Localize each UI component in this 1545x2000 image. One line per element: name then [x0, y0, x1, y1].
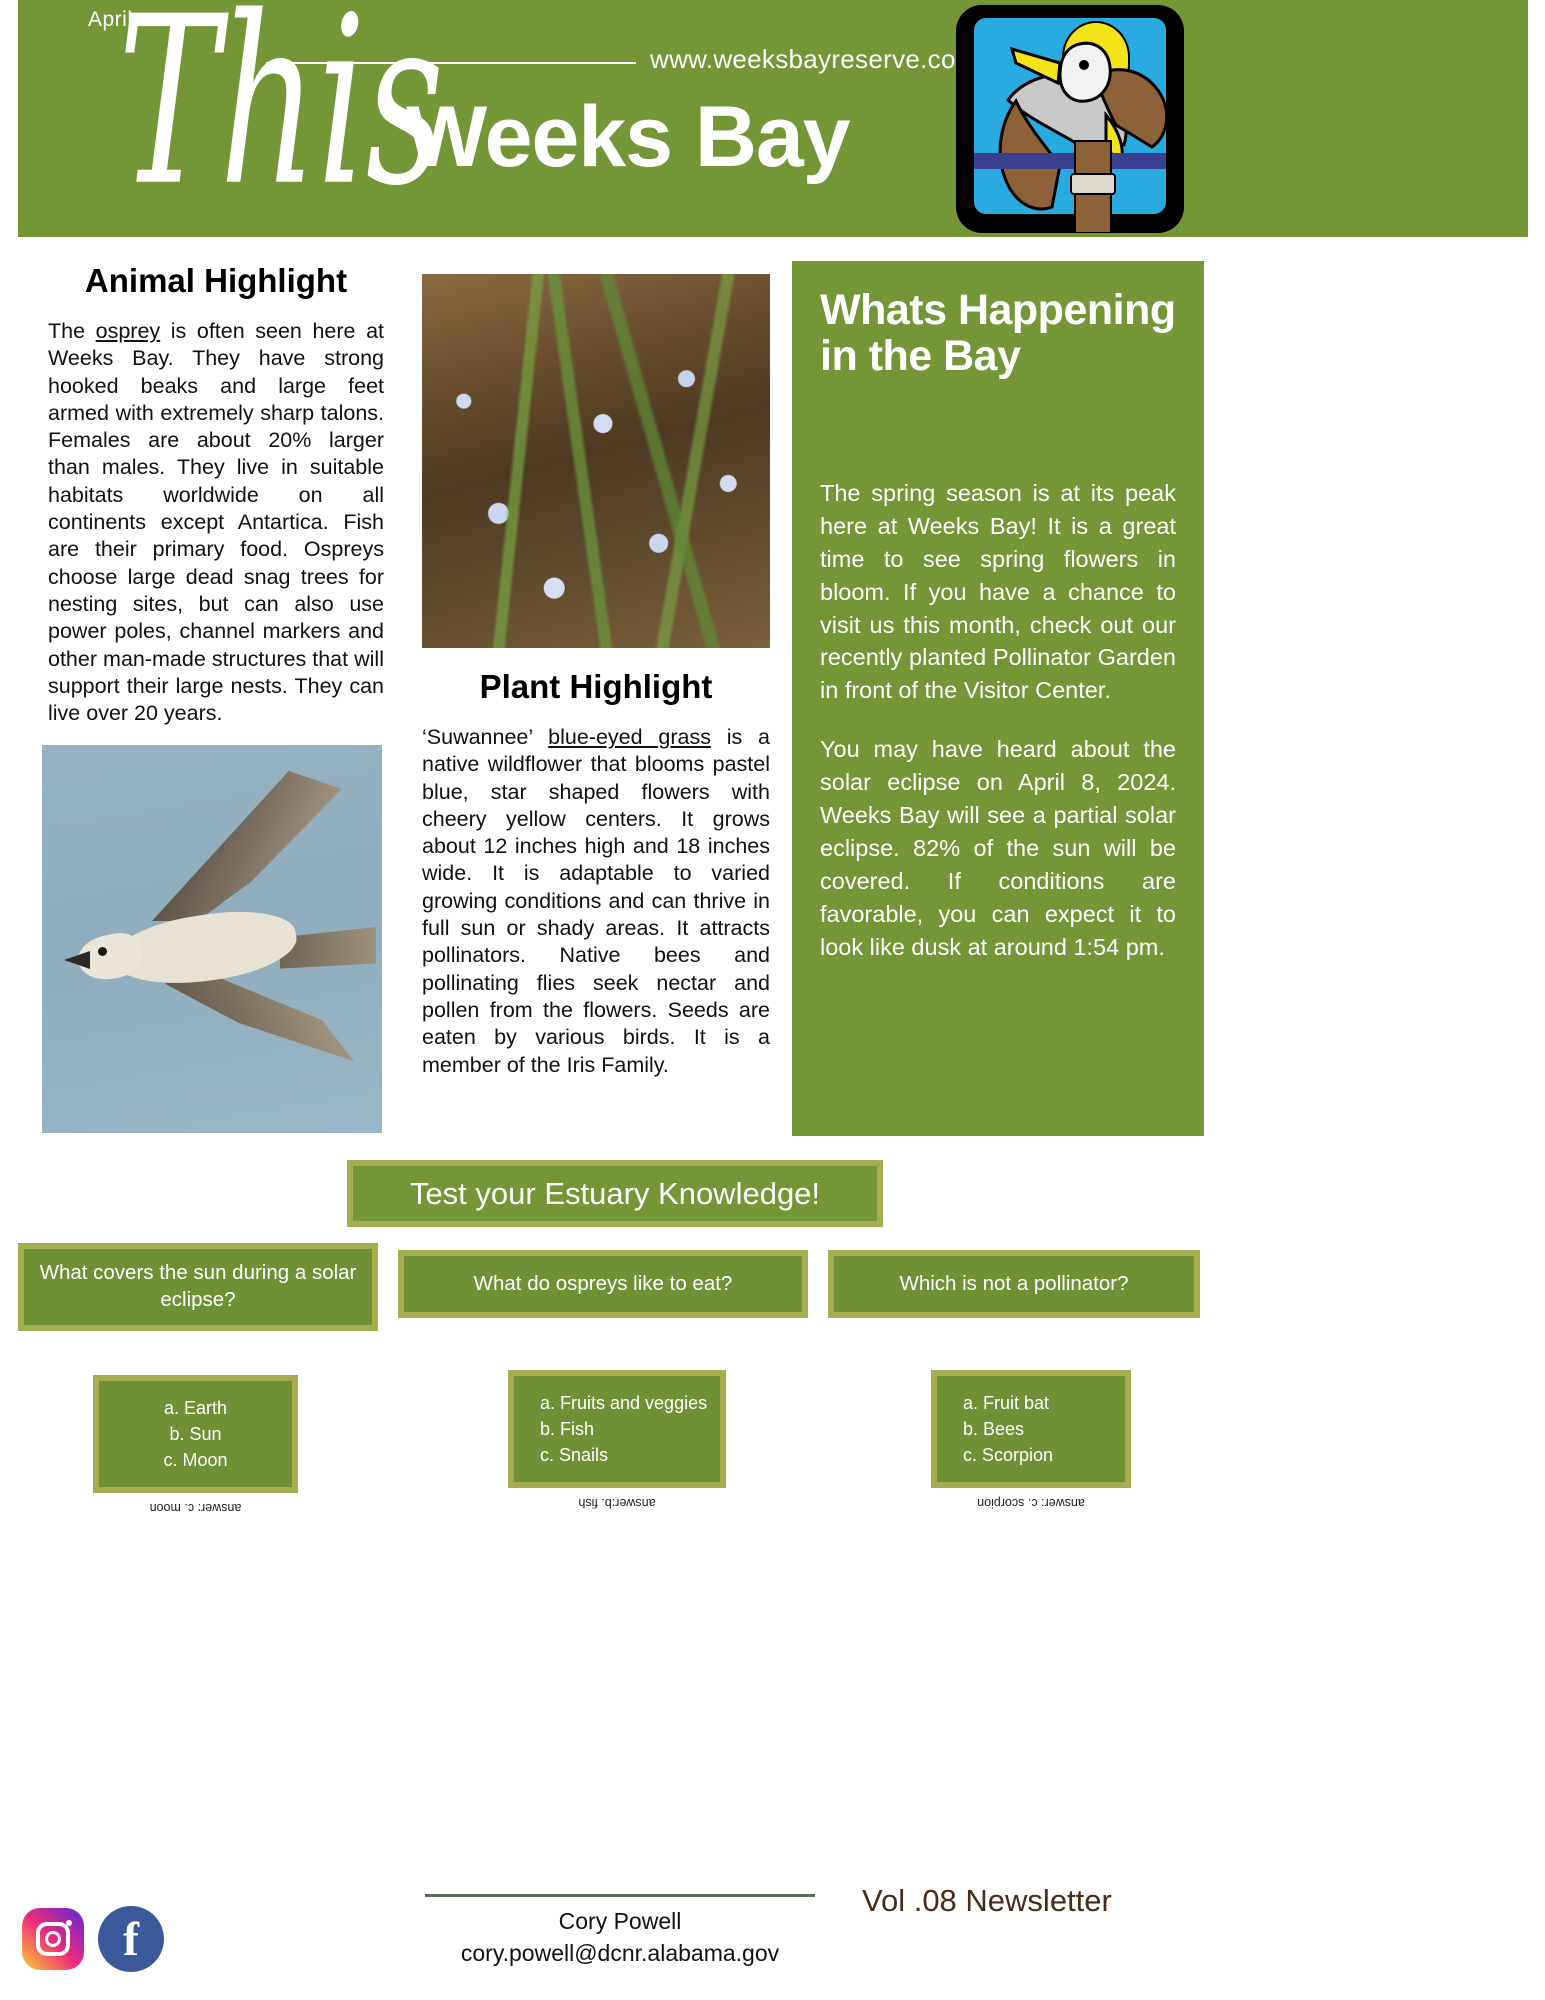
contact-name: Cory Powell [425, 1908, 815, 1935]
panel-title: Whats Happening in the Bay [820, 287, 1176, 379]
quiz-card-2: What do ospreys like to eat? a. Fruits a… [398, 1250, 808, 1510]
whats-happening-panel: Whats Happening in the Bay The spring se… [792, 261, 1204, 1136]
animal-body-rest: is often seen here at Weeks Bay. They ha… [48, 319, 384, 725]
quiz-question-1: What covers the sun during a solar eclip… [18, 1243, 378, 1331]
quiz-question-1-text: What covers the sun during a solar eclip… [38, 1260, 358, 1313]
plant-highlight-body: ‘Suwannee’ blue-eyed grass is a native w… [422, 724, 770, 1079]
pelican-logo-icon [956, 5, 1184, 233]
animal-keyword: osprey [96, 319, 161, 343]
plant-body-rest: is a native wildflower that blooms paste… [422, 725, 770, 1077]
logo-rope [1070, 173, 1116, 195]
quiz-banner: Test your Estuary Knowledge! [347, 1160, 883, 1227]
quiz-card-1: What covers the sun during a solar eclip… [18, 1243, 378, 1515]
quiz-options-2: a. Fruits and veggies b. Fish c. Snails [508, 1370, 726, 1488]
quiz-option-1c[interactable]: c. Moon [99, 1447, 292, 1473]
masthead-script-word: This [118, 0, 444, 218]
website-url[interactable]: www.weeksbayreserve.com [650, 44, 978, 75]
quiz-question-3-text: Which is not a pollinator? [899, 1271, 1128, 1298]
volume-label: Vol .08 Newsletter [862, 1883, 1112, 1919]
osprey-upper-wing [152, 771, 342, 921]
quiz-card-3: Which is not a pollinator? a. Fruit bat … [828, 1250, 1200, 1510]
instagram-ring [36, 1922, 70, 1956]
panel-paragraph-2: You may have heard about the solar eclip… [820, 733, 1176, 963]
animal-lead: The [48, 319, 96, 343]
instagram-icon[interactable] [22, 1908, 84, 1970]
logo-waterline [974, 153, 1166, 169]
quiz-options-1: a. Earth b. Sun c. Moon [93, 1375, 298, 1493]
quiz-option-2c[interactable]: c. Snails [514, 1442, 720, 1468]
plant-keyword: blue-eyed grass [548, 725, 711, 749]
instagram-dot [66, 1920, 72, 1926]
quiz-options-3: a. Fruit bat b. Bees c. Scorpion [931, 1370, 1131, 1488]
quiz-question-2: What do ospreys like to eat? [398, 1250, 808, 1318]
animal-highlight-title: Animal Highlight [48, 262, 384, 300]
osprey-photo [42, 745, 382, 1133]
quiz-option-1b[interactable]: b. Sun [99, 1421, 292, 1447]
quiz-option-3c[interactable]: c. Scorpion [937, 1442, 1125, 1468]
quiz-question-2-text: What do ospreys like to eat? [474, 1271, 733, 1298]
pelican-illustration [956, 5, 1184, 233]
quiz-option-2b[interactable]: b. Fish [514, 1416, 720, 1442]
contact-email[interactable]: cory.powell@dcnr.alabama.gov [400, 1940, 840, 1967]
page-header: April This www.weeksbayreserve.com Weeks… [18, 0, 1528, 237]
quiz-option-2a[interactable]: a. Fruits and veggies [514, 1390, 720, 1416]
quiz-option-3b[interactable]: b. Bees [937, 1416, 1125, 1442]
animal-highlight-section: Animal Highlight The osprey is often see… [48, 262, 384, 727]
quiz-answer-1: answer: c. moon [93, 1501, 298, 1515]
quiz-banner-label: Test your Estuary Knowledge! [410, 1176, 820, 1212]
panel-body: The spring season is at its peak here at… [820, 477, 1176, 963]
osprey-eye [98, 947, 107, 956]
quiz-answer-3: answer: c. scorpion [931, 1496, 1131, 1510]
blue-eyed-grass-photo [422, 274, 770, 648]
header-divider-rule [266, 62, 636, 64]
facebook-icon[interactable]: f [98, 1906, 164, 1972]
osprey-beak [64, 951, 90, 969]
masthead-title: Weeks Bay [406, 88, 850, 187]
plant-lead: ‘Suwannee’ [422, 725, 548, 749]
panel-paragraph-1: The spring season is at its peak here at… [820, 477, 1176, 707]
plant-highlight-section: Plant Highlight ‘Suwannee’ blue-eyed gra… [422, 274, 770, 1079]
quiz-option-3a[interactable]: a. Fruit bat [937, 1390, 1125, 1416]
animal-highlight-body: The osprey is often seen here at Weeks B… [48, 318, 384, 727]
quiz-question-3: Which is not a pollinator? [828, 1250, 1200, 1318]
quiz-option-1a[interactable]: a. Earth [99, 1395, 292, 1421]
plant-highlight-title: Plant Highlight [422, 668, 770, 706]
quiz-answer-2: answer:b. fish [508, 1496, 726, 1510]
footer-divider [425, 1894, 815, 1897]
instagram-lens [45, 1931, 61, 1947]
